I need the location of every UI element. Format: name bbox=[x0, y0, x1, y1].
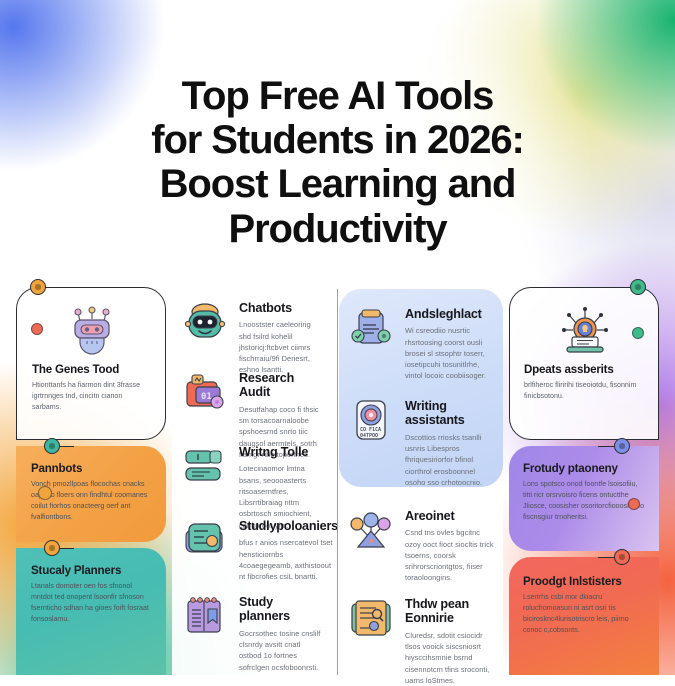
card-content: Frotudy ptaoneny Lons spotsco onod foont… bbox=[523, 462, 645, 523]
connector-dot-green-small[interactable] bbox=[632, 327, 644, 339]
list-item-heading: Thdw pean Eonnirie bbox=[405, 597, 496, 626]
network-nodes-icon bbox=[348, 507, 394, 553]
title-line-2: for Students in 2026: bbox=[58, 118, 617, 162]
middle-column-divider bbox=[337, 289, 338, 675]
list-item-text: Writing assistants Dscottios rriosks tsa… bbox=[405, 397, 496, 488]
card-productivity[interactable]: Proodgt Inlstisters Lsertrhs csbi mor dk… bbox=[509, 557, 659, 675]
connector-dot-teal[interactable] bbox=[44, 438, 60, 454]
list-item-text: Andsleghlact Wi csreodiio nusrtic rhsrto… bbox=[405, 305, 496, 382]
connector-dot-red-small-right[interactable] bbox=[628, 498, 640, 510]
list-item-text: Areoinet Csnd tns ovles bgcitnc ozoy ooc… bbox=[405, 507, 496, 584]
laptop-ai-icon bbox=[560, 304, 610, 354]
list-item-body: Csnd tns ovles bgcitnc ozoy ooct fioct s… bbox=[405, 527, 496, 583]
card-ai-assistants[interactable]: Dpeats assberits brlfiheroc fliririhi ti… bbox=[509, 287, 659, 440]
card-heading: Stucaly Planners bbox=[31, 564, 151, 577]
card-heading: Dpeats assberits bbox=[524, 363, 646, 376]
card-body: Ltanals domoter oen fos sfnonol mntdot t… bbox=[31, 581, 151, 625]
list-item[interactable]: Thdw pean Eonnirie Cluredsr, sdotit csio… bbox=[348, 595, 496, 686]
list-item-body: Lnoostster caeleoririg shd fsilrd koheli… bbox=[239, 319, 324, 375]
connector-dot-orange-bottom[interactable] bbox=[44, 540, 60, 556]
list-item-body: Wi csreodiio nusrtic rhsrtoosing coorst … bbox=[405, 325, 496, 381]
document-search-icon bbox=[348, 595, 394, 641]
writing-tools-icon bbox=[182, 443, 228, 489]
connector-dot-red[interactable] bbox=[614, 549, 630, 565]
list-item-body: Gocrsothec tosine cnslilf clsnrdy avsitt… bbox=[239, 628, 324, 673]
list-item-heading: Chatbots bbox=[239, 301, 324, 315]
list-item-text: Chatbots Lnoostster caeleoririg shd fsil… bbox=[239, 299, 324, 376]
card-content: Stucaly Planners Ltanals domoter oen fos… bbox=[31, 564, 151, 625]
connector-dot-red-small[interactable] bbox=[31, 323, 43, 335]
infographic-board: Chatbots Lnoostster caeleoririg shd fsil… bbox=[0, 283, 675, 675]
card-body: Htionttanfs ha fiarmon dint 3frasse igrt… bbox=[32, 380, 152, 413]
phone-target-icon: CO F1CA04TPOO bbox=[348, 397, 394, 443]
connector-dot-blue[interactable] bbox=[614, 438, 630, 454]
list-item-body: Dscottios rriosks tsanlli usnris Libespr… bbox=[405, 432, 496, 488]
card-heading: Pannbots bbox=[31, 462, 151, 475]
page-title: Top Free AI Tools for Students in 2026: … bbox=[0, 74, 675, 251]
title-line-4: Productivity bbox=[58, 207, 617, 251]
list-item-heading: Research Audit bbox=[239, 371, 324, 400]
connector-dot-orange-mid[interactable] bbox=[38, 486, 52, 500]
list-item[interactable]: Andsleghlact Wi csreodiio nusrtic rhsrto… bbox=[348, 305, 496, 382]
card-study-planners[interactable]: Stucaly Planners Ltanals domoter oen fos… bbox=[16, 548, 166, 675]
list-item-body: bfus r anios nsercatevol tset hensticior… bbox=[239, 537, 338, 582]
connector-dot-orange-top[interactable] bbox=[30, 279, 46, 295]
card-heading: Proodgt Inlstisters bbox=[523, 575, 645, 588]
title-line-3: Boost Learning and bbox=[58, 162, 617, 206]
svg-text:01: 01 bbox=[201, 392, 212, 402]
list-item-text: Studlypoloaniers bfus r anios nsercatevo… bbox=[239, 517, 338, 582]
card-body: brlfiheroc fliririhi tiseoiotdu, fisonni… bbox=[524, 380, 646, 402]
list-item[interactable]: Chatbots Lnoostster caeleoririg shd fsil… bbox=[182, 299, 324, 376]
card-content: The Genes Tood Htionttanfs ha fiarmon di… bbox=[32, 304, 152, 413]
card-content: Proodgt Inlstisters Lsertrhs csbi mor dk… bbox=[523, 575, 645, 636]
list-item-heading: Areoinet bbox=[405, 509, 496, 523]
list-item[interactable]: Areoinet Csnd tns ovles bgcitnc ozoy ooc… bbox=[348, 507, 496, 584]
title-line-1: Top Free AI Tools bbox=[58, 74, 617, 118]
robot-head-icon bbox=[67, 304, 117, 354]
list-item-heading: Studlypoloaniers bbox=[239, 519, 338, 533]
research-cards-icon: 01 bbox=[182, 369, 228, 415]
list-item[interactable]: CO F1CA04TPOO Writing assistants Dscotti… bbox=[348, 397, 496, 488]
card-heading: Frotudy ptaoneny bbox=[523, 462, 645, 475]
card-body: Lsertrhs csbi mor dkiacru rolucfromoasun… bbox=[523, 592, 645, 636]
card-chatbot-tool[interactable]: The Genes Tood Htionttanfs ha fiarmon di… bbox=[16, 287, 166, 440]
card-body: Lons spotsco onod foontfe lsoisofiiu, ti… bbox=[523, 479, 645, 523]
card-heading: The Genes Tood bbox=[32, 363, 152, 376]
card-body: Vonch pmozllpoas flocochas cnacks oap 3f… bbox=[31, 479, 151, 523]
clipboard-ai-icon bbox=[348, 305, 394, 351]
list-item-text: Thdw pean Eonnirie Cluredsr, sdotit csio… bbox=[405, 595, 496, 686]
list-item-heading: Andsleghlact bbox=[405, 307, 496, 321]
study-card-icon bbox=[182, 517, 228, 563]
list-item-text: Study planners Gocrsothec tosine cnslilf… bbox=[239, 593, 324, 673]
list-item[interactable]: Studlypoloaniers bfus r anios nsercatevo… bbox=[182, 517, 324, 582]
notebook-icon bbox=[182, 593, 228, 639]
list-item-heading: Writng Tolle bbox=[239, 445, 324, 459]
list-item-body: Cluredsr, sdotit csiocidr tlsos vooick s… bbox=[405, 630, 496, 686]
list-item[interactable]: Study planners Gocrsothec tosine cnslilf… bbox=[182, 593, 324, 673]
card-content: Dpeats assberits brlfiheroc fliririhi ti… bbox=[524, 304, 646, 402]
connector-dot-green-top[interactable] bbox=[630, 279, 646, 295]
list-item-heading: Study planners bbox=[239, 595, 324, 624]
robot-face-icon bbox=[182, 299, 228, 345]
list-item-heading: Writing assistants bbox=[405, 399, 496, 428]
svg-text:04TPOO: 04TPOO bbox=[360, 433, 378, 439]
